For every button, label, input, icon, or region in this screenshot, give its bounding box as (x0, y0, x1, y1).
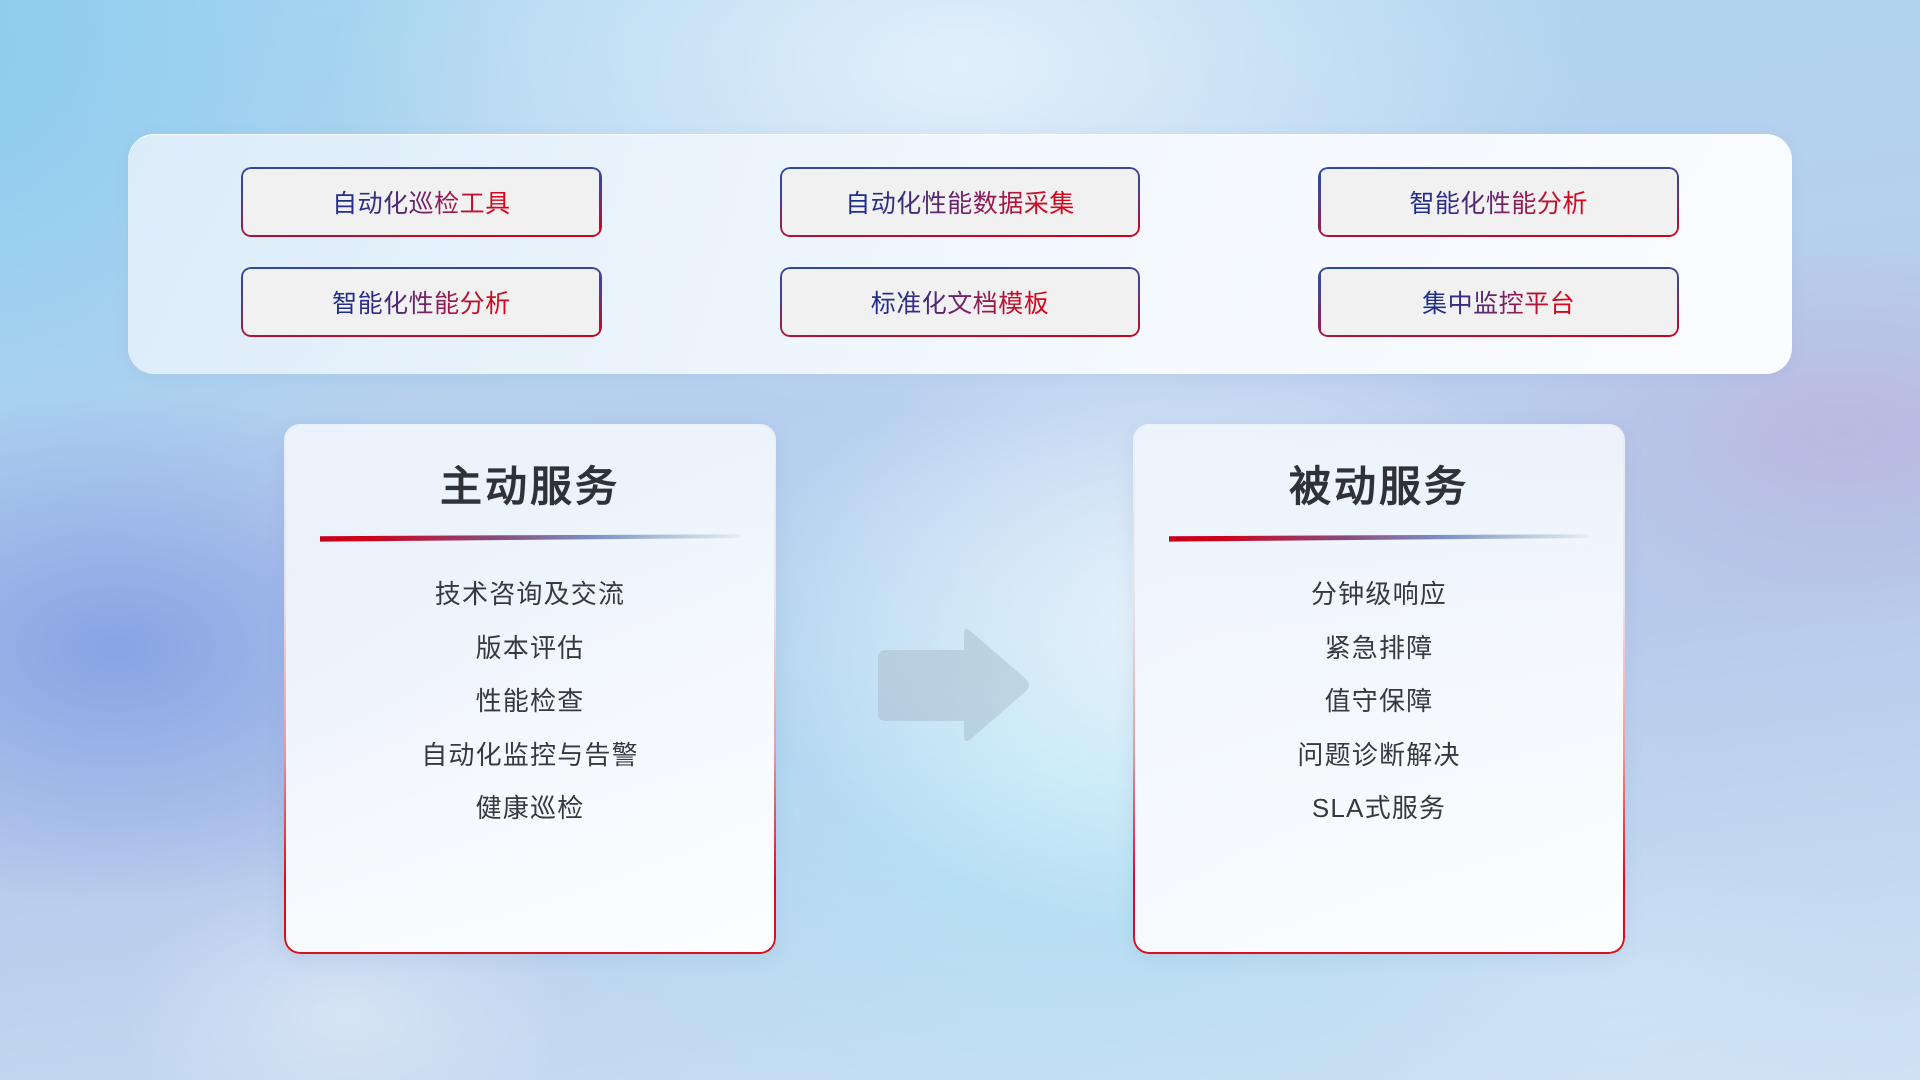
service-card-passive: 被动服务 分钟级响应 紧急排障 值守保障 (1133, 424, 1625, 954)
capability-tag-label: 自动化巡检工具 (332, 184, 511, 220)
service-item: 问题诊断解决 (1167, 739, 1591, 772)
service-item: 性能检查 (318, 685, 742, 718)
capability-tag[interactable]: 标准化文档模板 (780, 267, 1140, 337)
capability-tag[interactable]: 自动化性能数据采集 (780, 167, 1140, 237)
card-divider (320, 534, 740, 544)
capability-tag[interactable]: 自动化巡检工具 (241, 167, 601, 237)
service-item: 自动化监控与告警 (318, 739, 742, 772)
service-item: 版本评估 (318, 632, 742, 665)
capability-tag[interactable]: 集中监控平台 (1319, 267, 1679, 337)
capability-tag[interactable]: 智能化性能分析 (241, 267, 601, 337)
right-arrow-icon (872, 628, 1032, 744)
service-item-list: 分钟级响应 紧急排障 值守保障 问题诊断解决 SLA式服务 (1167, 544, 1591, 928)
service-item: 健康巡检 (318, 792, 742, 825)
capability-tag-label: 标准化文档模板 (871, 284, 1050, 320)
card-title: 主动服务 (318, 462, 742, 512)
capability-tags-panel: 自动化巡检工具 自动化性能数据采集 智能化性能分析 智能化性能分析 标准化文档模… (128, 134, 1792, 374)
service-card-active: 主动服务 技术咨询及交流 版本评估 性能检查 (284, 424, 776, 954)
card-title: 被动服务 (1167, 462, 1591, 512)
card-divider (1169, 534, 1589, 544)
service-item: 技术咨询及交流 (318, 578, 742, 611)
service-item: 分钟级响应 (1167, 578, 1591, 611)
capability-tag-label: 集中监控平台 (1422, 284, 1575, 320)
capability-tag-label: 自动化性能数据采集 (845, 184, 1075, 220)
capability-tag[interactable]: 智能化性能分析 (1319, 167, 1679, 237)
capability-tag-label: 智能化性能分析 (1409, 184, 1588, 220)
service-item: SLA式服务 (1167, 792, 1591, 825)
service-item: 紧急排障 (1167, 632, 1591, 665)
capability-tag-label: 智能化性能分析 (332, 284, 511, 320)
service-item-list: 技术咨询及交流 版本评估 性能检查 自动化监控与告警 健康巡检 (318, 544, 742, 928)
service-item: 值守保障 (1167, 685, 1591, 718)
